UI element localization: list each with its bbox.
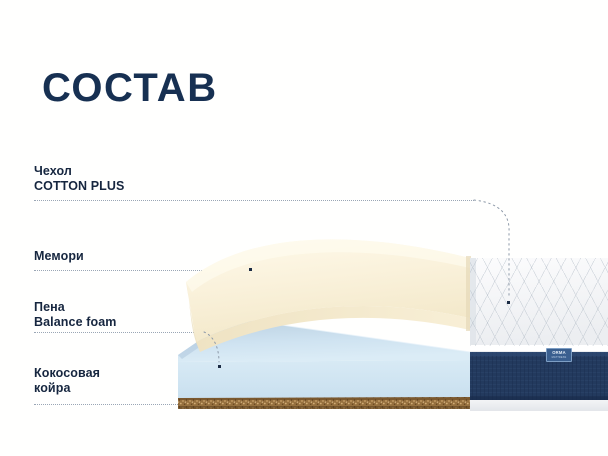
layer-coconut-coir <box>178 397 470 409</box>
brand-tag-subtitle: MATTRESS <box>547 356 571 359</box>
mattress-base <box>470 400 608 411</box>
leader-endpoint-foam <box>218 365 221 368</box>
side-panel-fabric <box>470 352 608 400</box>
leader-endpoint-cover <box>507 301 510 304</box>
leader-endpoint-memory <box>249 268 252 271</box>
composition-infographic: СОСТАВ Чехол COTTON PLUS Мемори Пена Bal… <box>0 0 608 456</box>
brand-tag: ORMA MATTRESS <box>546 348 572 362</box>
mattress-illustration <box>0 0 608 456</box>
layer-cover-cotton-plus <box>470 258 608 352</box>
brand-tag-name: ORMA <box>547 349 571 356</box>
